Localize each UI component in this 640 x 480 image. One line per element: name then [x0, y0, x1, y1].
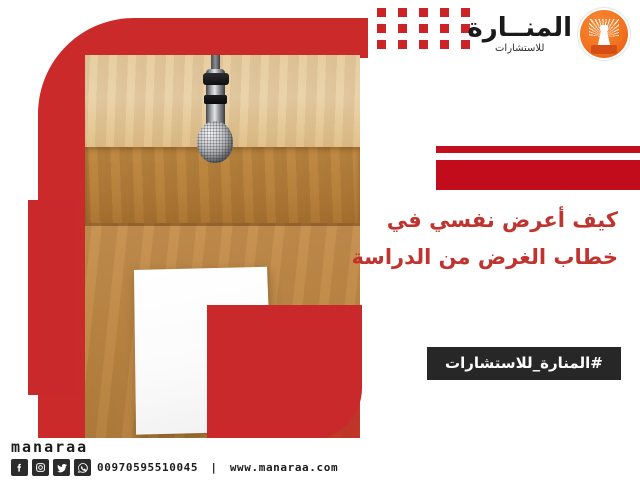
instagram-icon[interactable] — [32, 459, 49, 476]
grid-dot — [377, 40, 386, 49]
grid-dot — [398, 40, 407, 49]
poster-canvas: المنــارة للاستشارات كيف أعرض نفسي في خط… — [0, 0, 640, 480]
brand-logo[interactable]: المنــارة للاستشارات — [467, 10, 628, 58]
grid-dot — [377, 24, 386, 33]
headline-line-2: خطاب الغرض من الدراسة — [328, 239, 618, 276]
footer-phone[interactable]: 00970595510045 — [97, 461, 198, 474]
grid-dot — [419, 40, 428, 49]
headline-line-1: كيف أعرض نفسي في — [328, 202, 618, 239]
grid-dot — [440, 8, 449, 17]
grid-dot — [398, 24, 407, 33]
photo-desk-seam — [85, 223, 360, 226]
microphone-clip-lower — [204, 95, 227, 104]
grid-dot — [440, 24, 449, 33]
brand-logo-text: المنــارة للاستشارات — [467, 15, 572, 54]
thick-red-bar — [436, 160, 640, 190]
decorative-dot-grid — [377, 8, 482, 56]
lighthouse-base — [591, 45, 617, 54]
grid-dot — [440, 40, 449, 49]
microphone-clip-upper — [203, 73, 229, 85]
facebook-icon[interactable] — [11, 459, 28, 476]
red-bottom-right-block — [207, 305, 362, 440]
lighthouse-logo-icon — [580, 10, 628, 58]
microphone-icon — [197, 55, 233, 171]
footer-website[interactable]: www.manaraa.com — [230, 461, 338, 474]
footer-brand: manaraa — [11, 438, 88, 456]
brand-logo-subtitle: للاستشارات — [495, 44, 544, 54]
microphone-head — [197, 121, 233, 163]
thin-red-bar — [436, 146, 640, 153]
headline: كيف أعرض نفسي في خطاب الغرض من الدراسة — [328, 202, 618, 276]
grid-dot — [419, 24, 428, 33]
grid-dot — [419, 8, 428, 17]
footer-contact: 00970595510045 | www.manaraa.com — [97, 461, 338, 474]
grid-dot — [398, 8, 407, 17]
brand-logo-name: المنــارة — [467, 15, 572, 41]
microphone-mesh — [197, 121, 233, 163]
red-left-tab — [28, 200, 78, 395]
footer-bar: manaraa 00970595510045 | www.manaraa.com — [0, 438, 640, 480]
footer-separator: | — [210, 461, 217, 474]
hashtag-badge[interactable]: #المنارة_للاستشارات — [427, 347, 621, 380]
social-links[interactable] — [11, 459, 91, 476]
whatsapp-icon[interactable] — [74, 459, 91, 476]
twitter-icon[interactable] — [53, 459, 70, 476]
grid-dot — [377, 8, 386, 17]
